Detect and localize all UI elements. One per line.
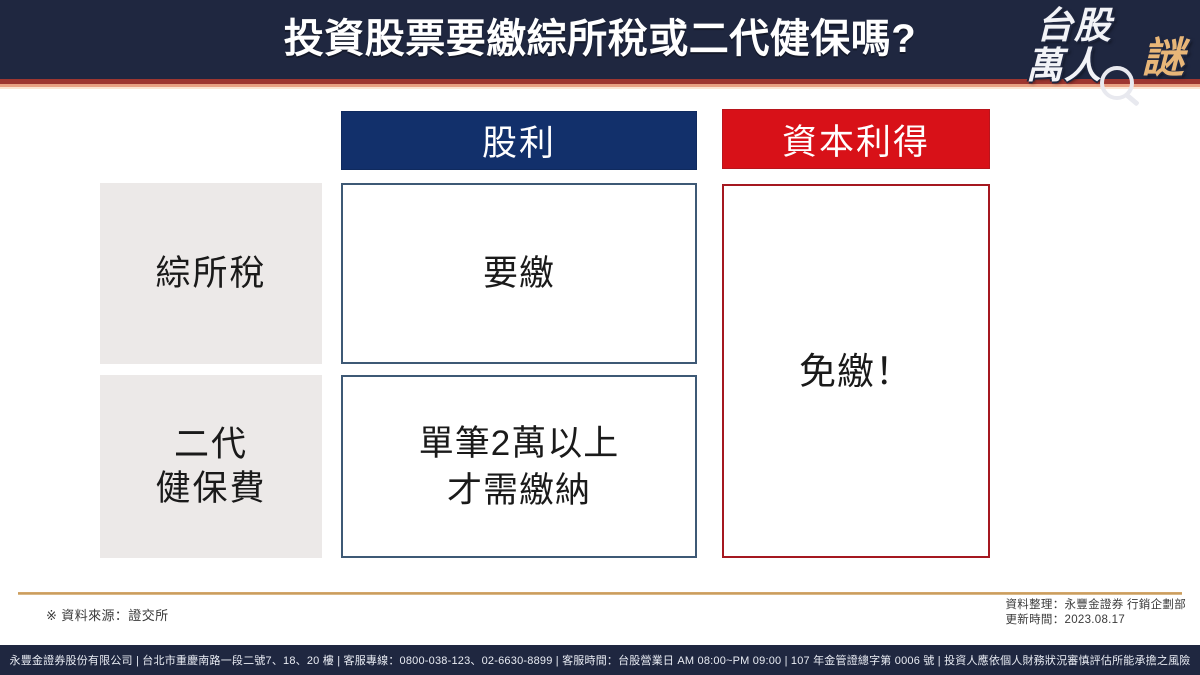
logo-accent-char: 謎 — [1142, 36, 1184, 80]
cell-dividend-nhi-line-1: 單筆2萬以上 — [419, 424, 619, 463]
logo-line-2: 萬人 — [1026, 46, 1102, 86]
logo-line-1: 台股 — [1036, 6, 1112, 46]
magnifier-icon — [1100, 66, 1134, 100]
brand-logo: 台股 萬人 謎 — [1018, 2, 1186, 102]
disclaimer-text: 永豐金證券股份有限公司 | 台北市重慶南路一段二號7、18、20 樓 | 客服專… — [10, 652, 1191, 668]
cell-dividend-income-tax-text: 要繳 — [483, 250, 555, 297]
cell-dividend-nhi-premium: 單筆2萬以上 才需繳納 — [341, 375, 697, 558]
credit-line-1: 資料整理：永豐金證券 行銷企劃部 — [1006, 598, 1187, 613]
credit-line-2: 更新時間：2023.08.17 — [1006, 613, 1187, 628]
row-label-nhi-premium-text: 二代 健保費 — [155, 423, 266, 511]
row-label-nhi-line-2: 健保費 — [155, 469, 266, 508]
row-label-nhi-line-1: 二代 — [174, 425, 248, 464]
row-label-income-tax: 綜所稅 — [100, 183, 322, 364]
gold-divider — [18, 592, 1182, 595]
cell-capital-gain-text: 免繳！ — [799, 348, 913, 395]
row-label-nhi-premium: 二代 健保費 — [100, 375, 322, 558]
cell-dividend-nhi-premium-text: 單筆2萬以上 才需繳納 — [419, 420, 619, 514]
slide-root: 投資股票要繳綜所稅或二代健保嗎? 台股 萬人 謎 股利 資本利得 綜所稅 二代 … — [0, 0, 1200, 675]
column-header-capital-gain: 資本利得 — [722, 109, 990, 169]
column-header-dividend-label: 股利 — [482, 115, 556, 166]
cell-dividend-income-tax: 要繳 — [341, 183, 697, 364]
cell-capital-gain: 免繳！ — [722, 184, 990, 558]
column-header-dividend: 股利 — [341, 111, 697, 170]
disclaimer-bar: 永豐金證券股份有限公司 | 台北市重慶南路一段二號7、18、20 樓 | 客服專… — [0, 645, 1200, 675]
row-label-income-tax-text: 綜所稅 — [155, 252, 266, 296]
column-header-capital-gain-label: 資本利得 — [782, 114, 930, 165]
cell-dividend-nhi-line-2: 才需繳納 — [447, 471, 591, 510]
source-note: ※ 資料來源：證交所 — [46, 605, 169, 624]
credit-block: 資料整理：永豐金證券 行銷企劃部 更新時間：2023.08.17 — [1006, 598, 1187, 628]
